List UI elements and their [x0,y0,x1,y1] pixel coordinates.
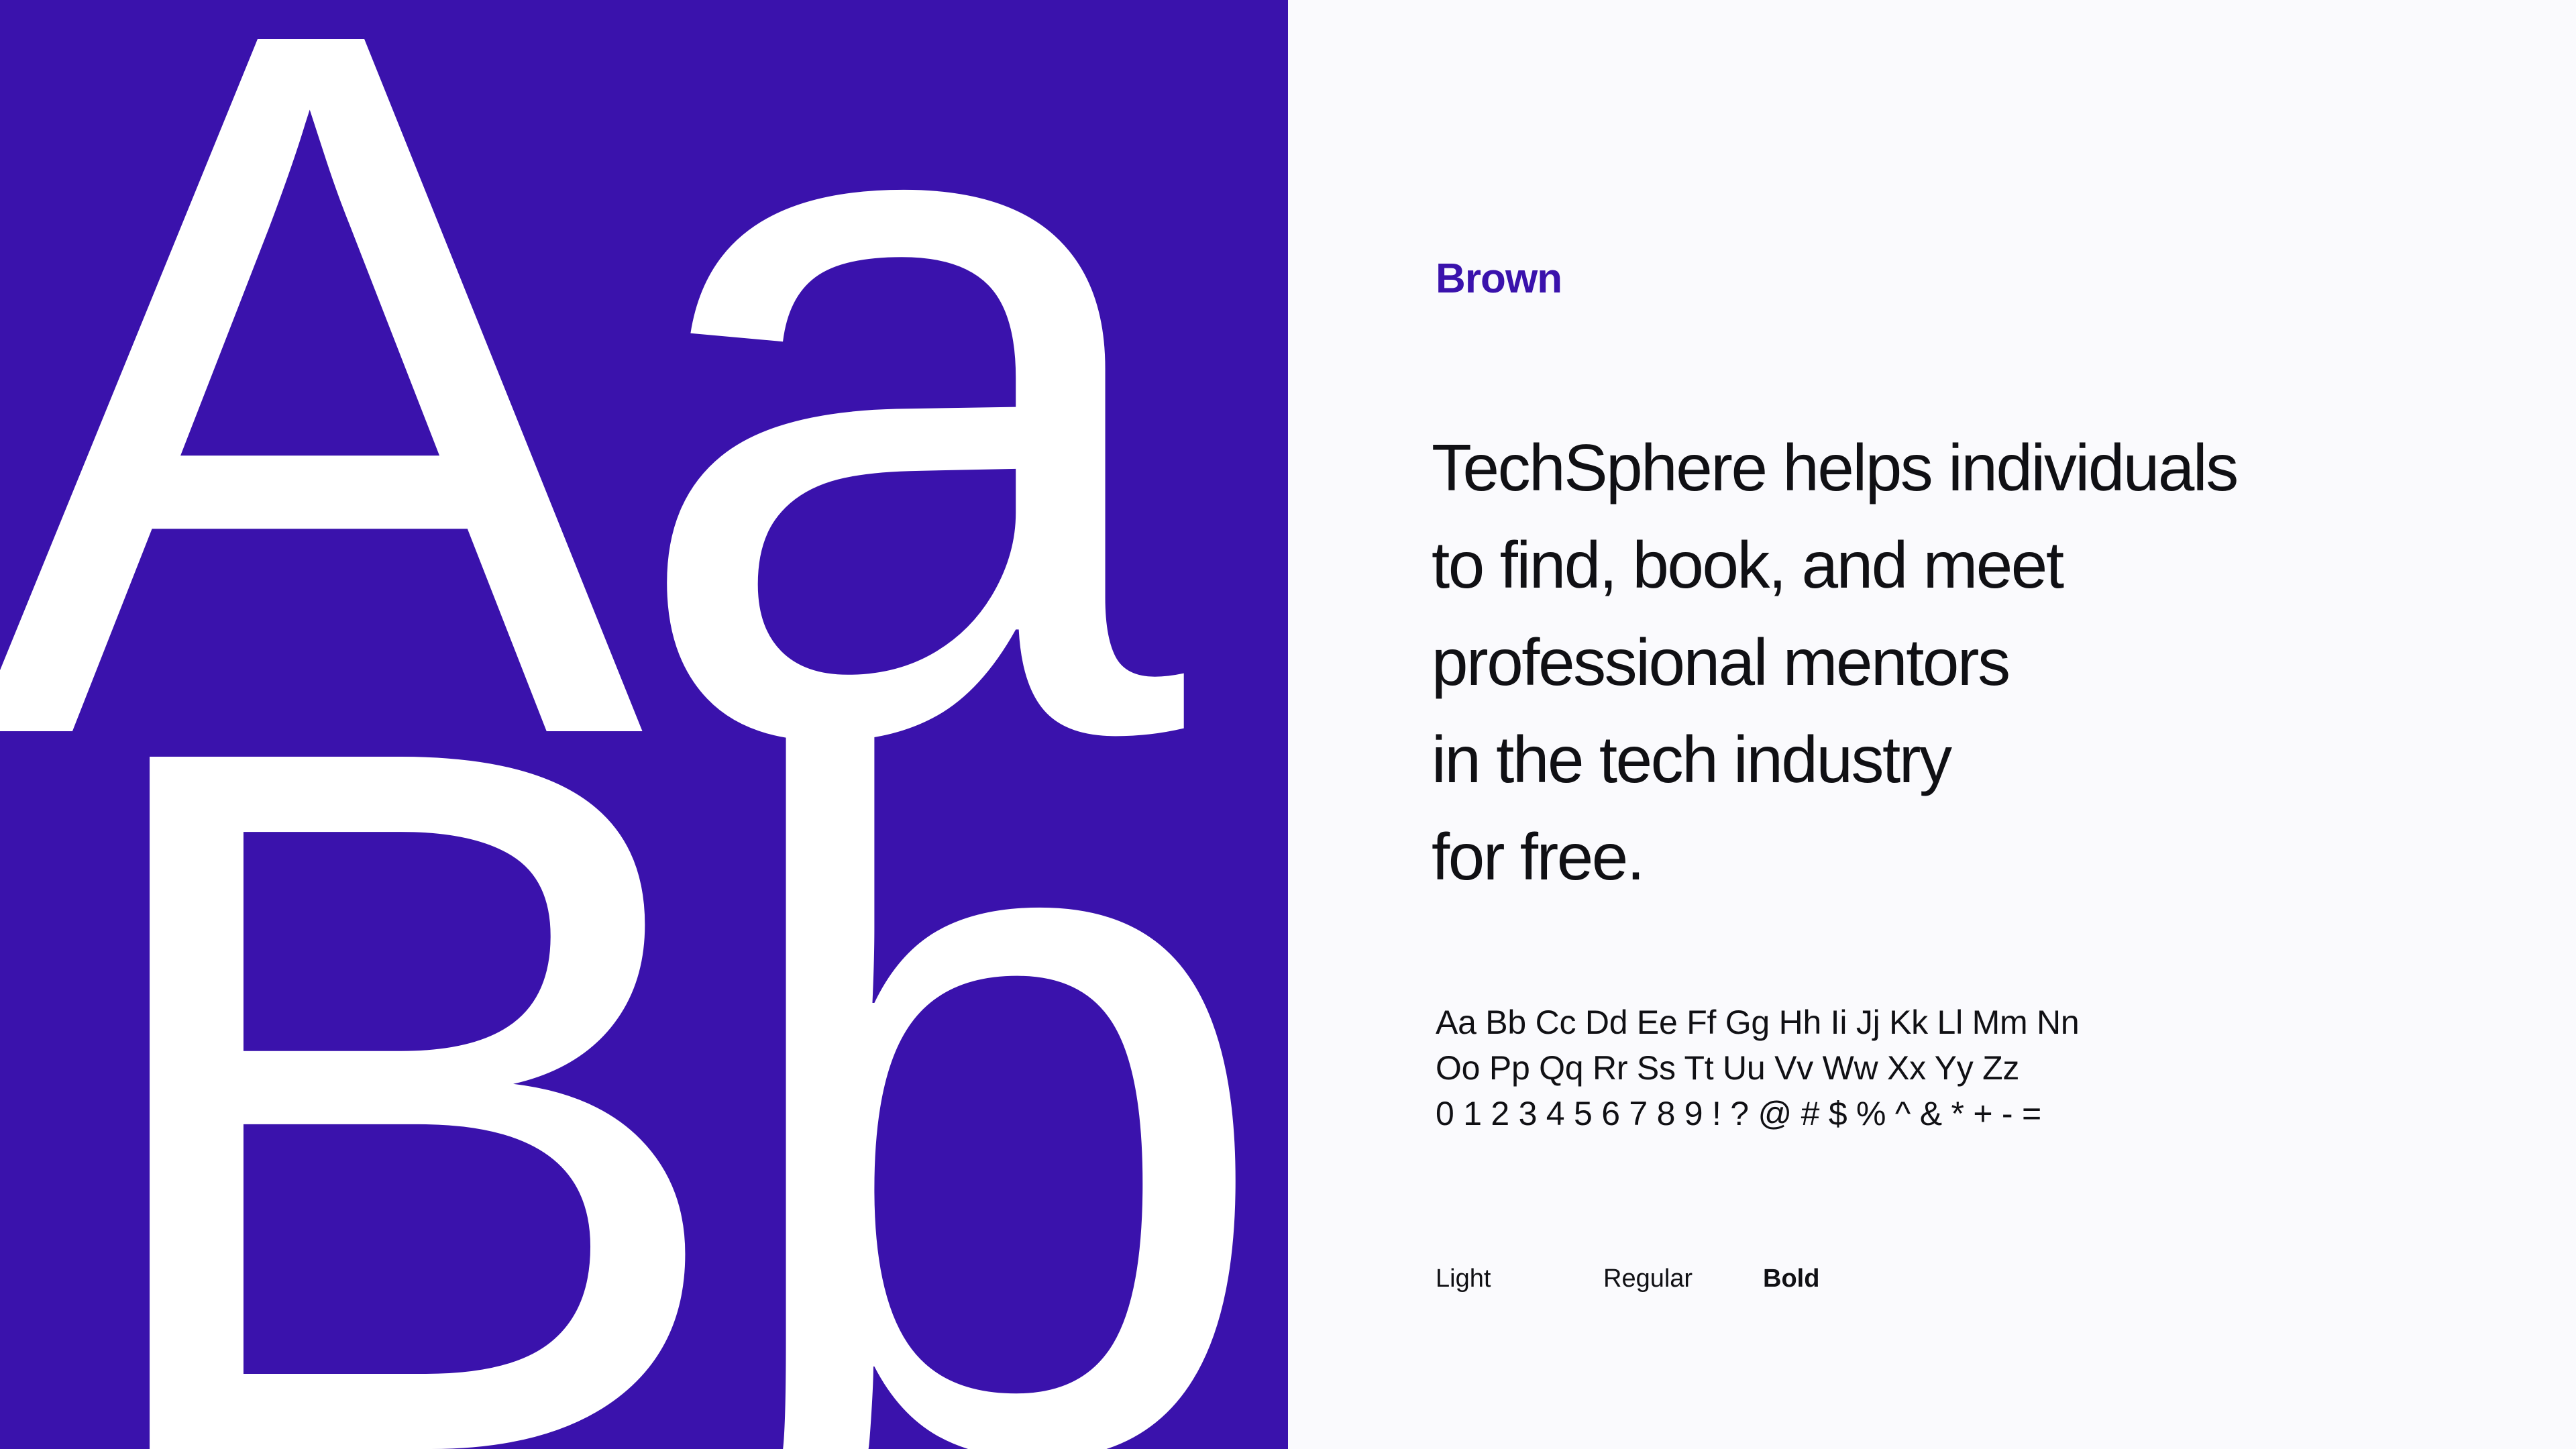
sample-line: to find, book, and meet [1432,517,2424,614]
sample-line: professional mentors [1432,614,2424,711]
font-weights-row: Light Regular Bold [1436,1261,2428,1301]
font-info-panel: Brown TechSphere helps individuals to fi… [1288,0,2576,1449]
sample-paragraph: TechSphere helps individuals to find, bo… [1432,419,2424,906]
sample-line: for free. [1432,808,2424,906]
typography-specimen-page: Aa Bb Brown TechSphere helps individuals… [0,0,2576,1449]
glyph-showcase-panel: Aa Bb [0,0,1288,1449]
sample-line: TechSphere helps individuals [1432,419,2424,517]
font-info-content: Brown TechSphere helps individuals to fi… [1436,0,2469,1449]
weight-label-bold[interactable]: Bold [1763,1261,1819,1296]
weight-label-light[interactable]: Light [1436,1261,1491,1296]
showcase-glyph-bb: Bb [67,597,1288,1449]
charset-line-numerals-symbols: 0 1 2 3 4 5 6 7 8 9 ! ? @ # $ % ^ & * + … [1436,1091,2428,1136]
charset-line-uppercase-a-n: Aa Bb Cc Dd Ee Ff Gg Hh Ii Jj Kk Ll Mm N… [1436,1000,2428,1045]
character-set-block: Aa Bb Cc Dd Ee Ff Gg Hh Ii Jj Kk Ll Mm N… [1436,1000,2428,1136]
sample-line: in the tech industry [1432,711,2424,808]
charset-line-uppercase-o-z: Oo Pp Qq Rr Ss Tt Uu Vv Ww Xx Yy Zz [1436,1045,2428,1091]
weight-label-regular[interactable]: Regular [1603,1261,1693,1296]
font-name-title: Brown [1436,258,1562,300]
